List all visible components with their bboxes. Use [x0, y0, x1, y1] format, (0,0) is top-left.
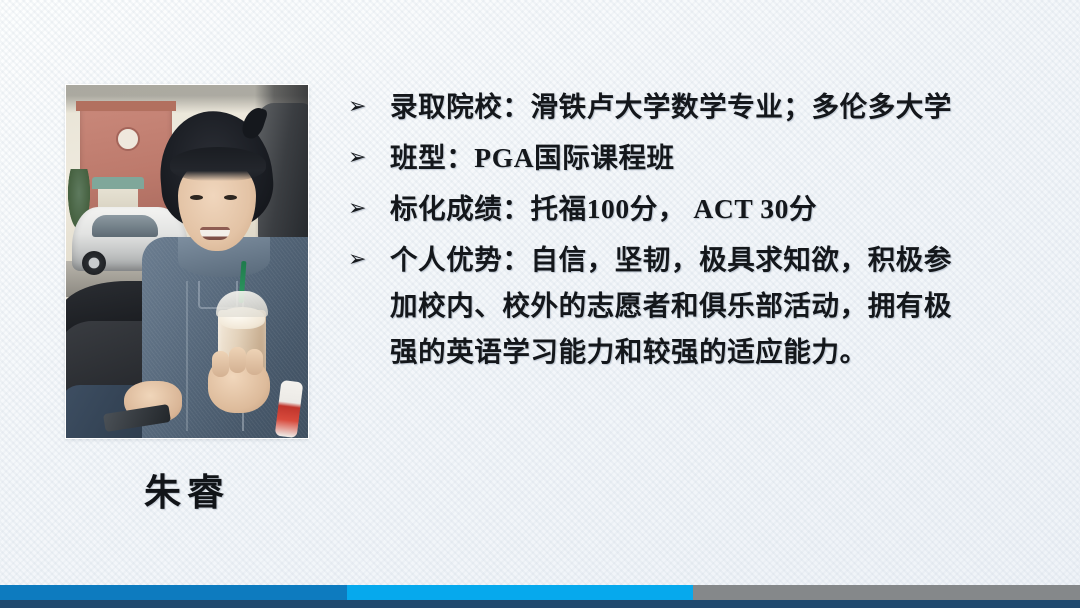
bullet-line: 班型：PGA国际课程班	[390, 135, 1060, 181]
person-eye-right	[224, 195, 237, 200]
bullet-item-strengths: ➢ 个人优势：自信，坚韧，极具求知欲，积极参 加校内、校外的志愿者和俱乐部活动，…	[348, 237, 1060, 375]
slide-canvas: 朱睿 ➢ 录取院校：滑铁卢大学数学专业；多伦多大学 ➢ 班型：PGA国际课程班 …	[0, 0, 1080, 608]
bottom-bar-segment-3	[693, 585, 1080, 600]
bullet-item-admission: ➢ 录取院校：滑铁卢大学数学专业；多伦多大学	[348, 84, 1060, 130]
student-name-caption: 朱睿	[66, 462, 308, 516]
profile-bullet-list: ➢ 录取院校：滑铁卢大学数学专业；多伦多大学 ➢ 班型：PGA国际课程班 ➢ 标…	[348, 84, 1060, 380]
bullet-text-test-scores: 标化成绩：托福100分， ACT 30分	[390, 186, 1060, 232]
bullet-line: 加校内、校外的志愿者和俱乐部活动，拥有极	[390, 283, 1060, 329]
building-clock-icon	[116, 127, 140, 151]
person-finger-2	[229, 347, 246, 373]
car-window	[92, 215, 158, 237]
bottom-decoration-bar	[0, 585, 1080, 608]
bullet-text-strengths: 个人优势：自信，坚韧，极具求知欲，积极参 加校内、校外的志愿者和俱乐部活动，拥有…	[390, 237, 1060, 375]
arrow-bullet-icon: ➢	[348, 237, 390, 283]
bullet-item-program: ➢ 班型：PGA国际课程班	[348, 135, 1060, 181]
building-awning	[92, 177, 144, 189]
bottom-bar-segment-1	[0, 585, 347, 600]
person-eye-left	[190, 195, 203, 200]
bullet-line: 录取院校：滑铁卢大学数学专业；多伦多大学	[390, 84, 1060, 130]
person-finger-1	[212, 351, 229, 377]
bullet-line: 强的英语学习能力和较强的适应能力。	[390, 329, 1060, 375]
bottom-bar-segments	[0, 585, 1080, 600]
bottom-bar-underline	[0, 600, 1080, 608]
jacket-seam-left	[186, 281, 188, 431]
arrow-bullet-icon: ➢	[348, 135, 390, 181]
arrow-bullet-icon: ➢	[348, 84, 390, 130]
arrow-bullet-icon: ➢	[348, 186, 390, 232]
bullet-item-test-scores: ➢ 标化成绩：托福100分， ACT 30分	[348, 186, 1060, 232]
student-photo-frame	[66, 85, 308, 438]
person-finger-3	[246, 349, 263, 375]
building-roof	[76, 101, 176, 111]
person-smile	[200, 227, 230, 240]
bullet-line: 个人优势：自信，坚韧，极具求知欲，积极参	[390, 237, 1060, 283]
student-photo	[66, 85, 308, 438]
person-bangs	[170, 147, 266, 181]
bullet-text-program: 班型：PGA国际课程班	[390, 135, 1060, 181]
bullet-text-admission: 录取院校：滑铁卢大学数学专业；多伦多大学	[390, 84, 1060, 130]
bullet-line: 标化成绩：托福100分， ACT 30分	[390, 186, 1060, 232]
car-wheel-front	[82, 251, 106, 275]
bottom-bar-segment-2	[347, 585, 693, 600]
